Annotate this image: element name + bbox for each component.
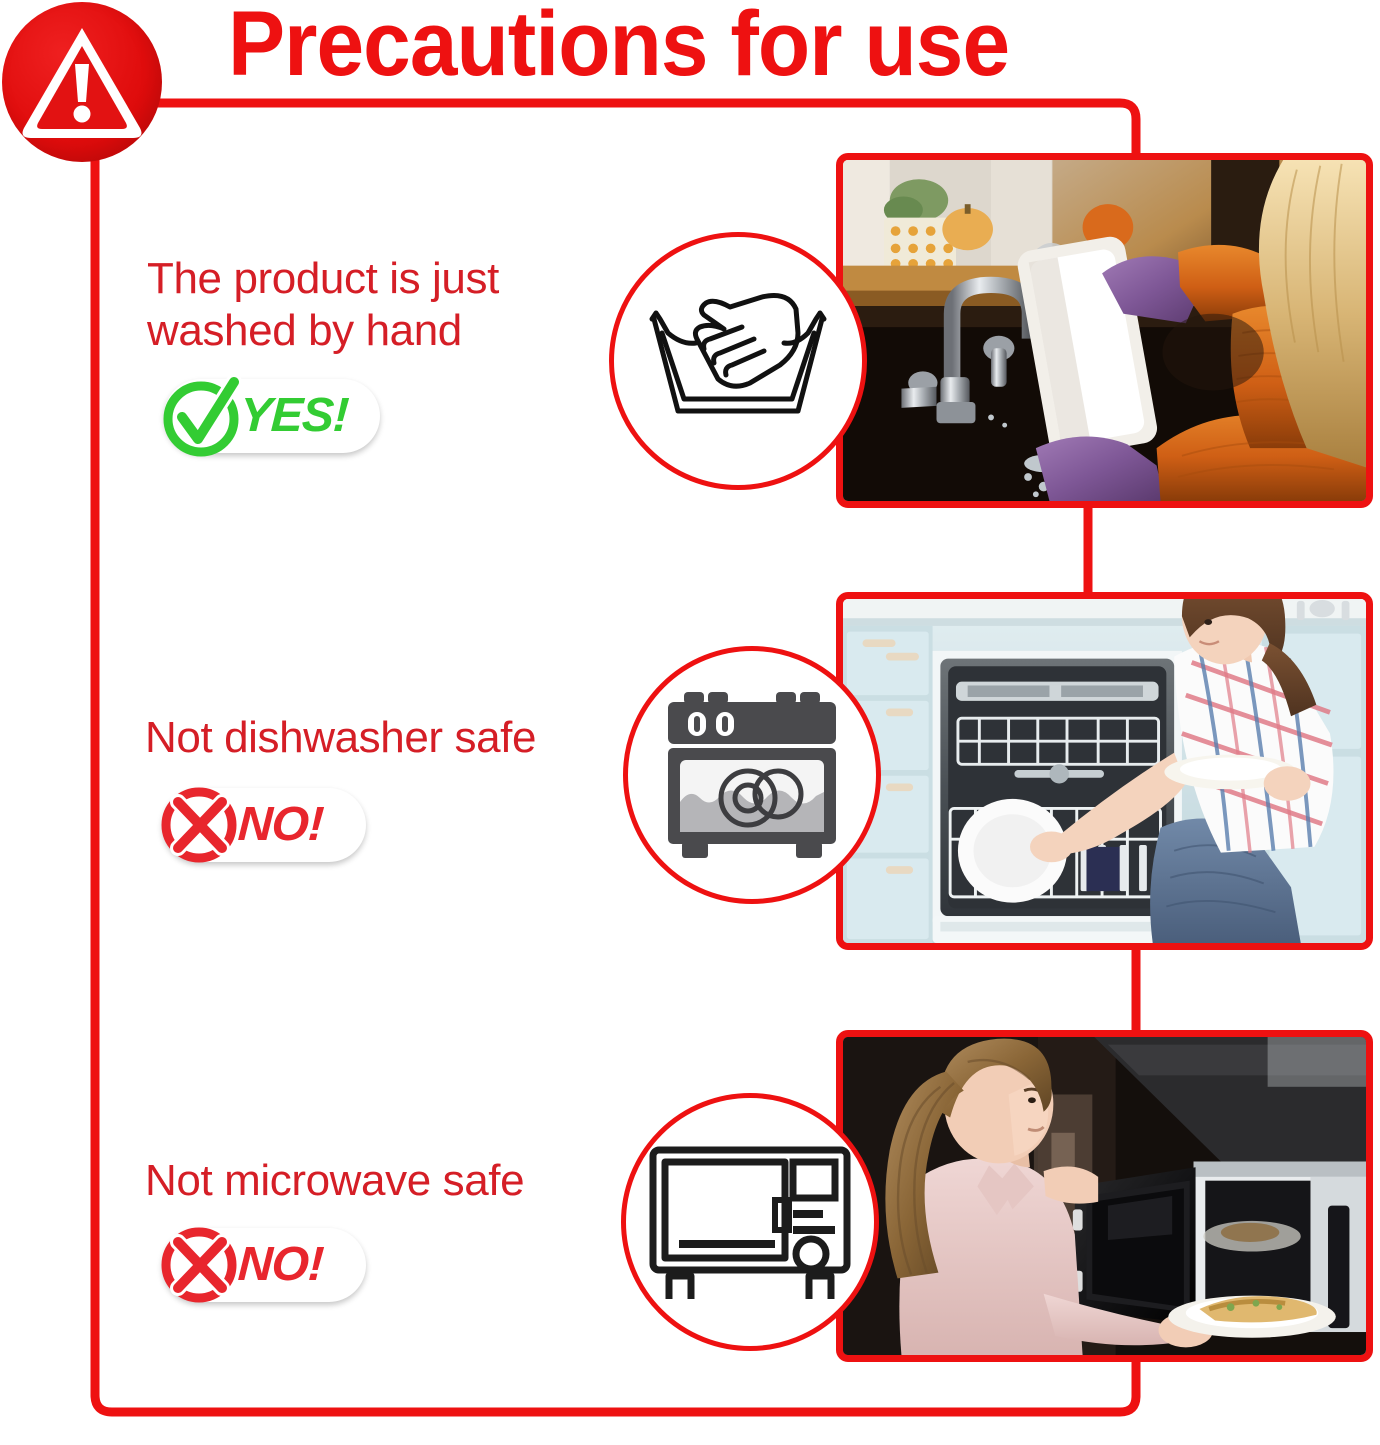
verdict-badge-no-dishwasher: NO! [162,788,366,862]
verdict-text-no-microwave: NO! [237,1241,324,1289]
cross-circle-icon [156,1222,242,1308]
cross-circle-icon [156,782,242,868]
verdict-badge-yes: YES! [164,379,380,453]
photo-dishwasher-loading [836,592,1373,950]
woman-washing-dish-in-sink-photo [843,160,1366,501]
woman-putting-plate-in-microwave-photo [843,1037,1366,1355]
precautions-infographic: Precautions for use The product is just … [0,0,1380,1445]
woman-loading-dishwasher-photo [843,599,1366,943]
section-label-hand-wash: The product is just washed by hand [147,253,577,357]
check-circle-icon [158,373,244,459]
photo-microwave-use [836,1030,1373,1362]
warning-triangle-icon [16,18,148,150]
photo-hand-washing [836,153,1373,508]
icon-circle-dishwasher [623,646,881,904]
icon-circle-hand-wash [609,232,867,490]
microwave-icon [647,1144,853,1300]
page-title: Precautions for use [228,0,1009,92]
icon-circle-microwave [621,1093,879,1351]
section-label-dishwasher: Not dishwasher safe [145,712,615,764]
warning-badge [2,2,162,162]
verdict-text-no-dishwasher: NO! [237,801,324,849]
hand-wash-basin-icon [638,271,838,451]
section-label-microwave: Not microwave safe [145,1155,615,1207]
verdict-text-yes: YES! [239,392,350,440]
verdict-badge-no-microwave: NO! [162,1228,366,1302]
dishwasher-icon [654,684,850,866]
